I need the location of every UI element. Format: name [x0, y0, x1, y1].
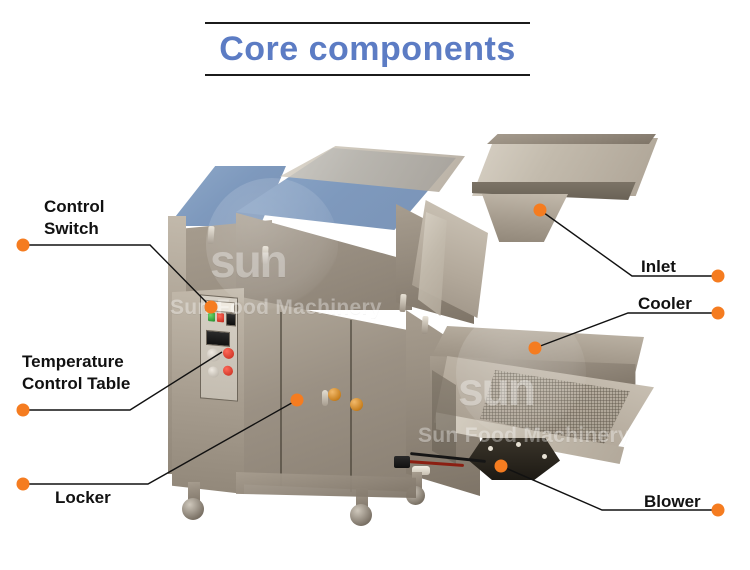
switch-block[interactable]	[226, 313, 236, 327]
callout-marker-blower[interactable]	[712, 504, 725, 517]
reset-knob[interactable]	[208, 366, 219, 378]
locker-door-seam-left	[280, 312, 282, 486]
callout-marker-inlet[interactable]	[712, 270, 725, 283]
callout-marker-temperature-control-table[interactable]	[17, 404, 30, 417]
latch-4[interactable]	[421, 316, 428, 334]
callout-label-locker: Locker	[55, 487, 111, 509]
selector-knob[interactable]	[207, 348, 220, 362]
title-rule-bottom	[205, 74, 530, 76]
emergency-stop-button[interactable]	[223, 347, 234, 359]
product-photo: sun Sun Food Machinery sun Sun Food Mach…	[150, 120, 670, 520]
callout-anchor-cooler[interactable]	[529, 342, 542, 355]
stop-button[interactable]	[217, 313, 224, 323]
blower-bolt-2	[516, 442, 521, 447]
callout-marker-control-switch[interactable]	[17, 239, 30, 252]
cooler-left-rail	[432, 370, 456, 464]
callout-label-inlet: Inlet	[641, 256, 676, 278]
callout-anchor-blower[interactable]	[495, 460, 508, 473]
screenshot-canvas: Core components	[0, 0, 750, 570]
blower-bolt-1	[488, 446, 493, 451]
callout-label-temperature-control-table: Temperature Control Table	[22, 351, 130, 395]
caster-left	[182, 498, 204, 520]
blower-bolt-3	[542, 454, 547, 459]
caster-mid	[350, 504, 372, 526]
cable-plug	[394, 456, 410, 468]
latch-1[interactable]	[261, 246, 268, 264]
latch-3[interactable]	[399, 294, 406, 312]
callout-anchor-inlet[interactable]	[534, 204, 547, 217]
locker-knob-2[interactable]	[350, 398, 363, 411]
callout-anchor-locker[interactable]	[291, 394, 304, 407]
latch-2[interactable]	[207, 226, 214, 244]
page-title-block: Core components	[205, 22, 530, 76]
callout-label-control-switch: Control Switch	[44, 196, 104, 240]
callout-anchor-control-switch[interactable]	[205, 301, 218, 314]
inlet-tray-rim	[480, 134, 656, 144]
callout-label-cooler: Cooler	[638, 293, 692, 315]
door-handle-mid[interactable]	[322, 390, 328, 406]
inlet-neck	[482, 194, 568, 242]
indicator-lamp	[223, 365, 233, 376]
temperature-display	[206, 330, 230, 347]
callout-marker-cooler[interactable]	[712, 307, 725, 320]
callout-marker-locker[interactable]	[17, 478, 30, 491]
callout-label-blower: Blower	[644, 491, 701, 513]
page-title: Core components	[205, 24, 530, 74]
locker-knob-1[interactable]	[328, 388, 341, 401]
